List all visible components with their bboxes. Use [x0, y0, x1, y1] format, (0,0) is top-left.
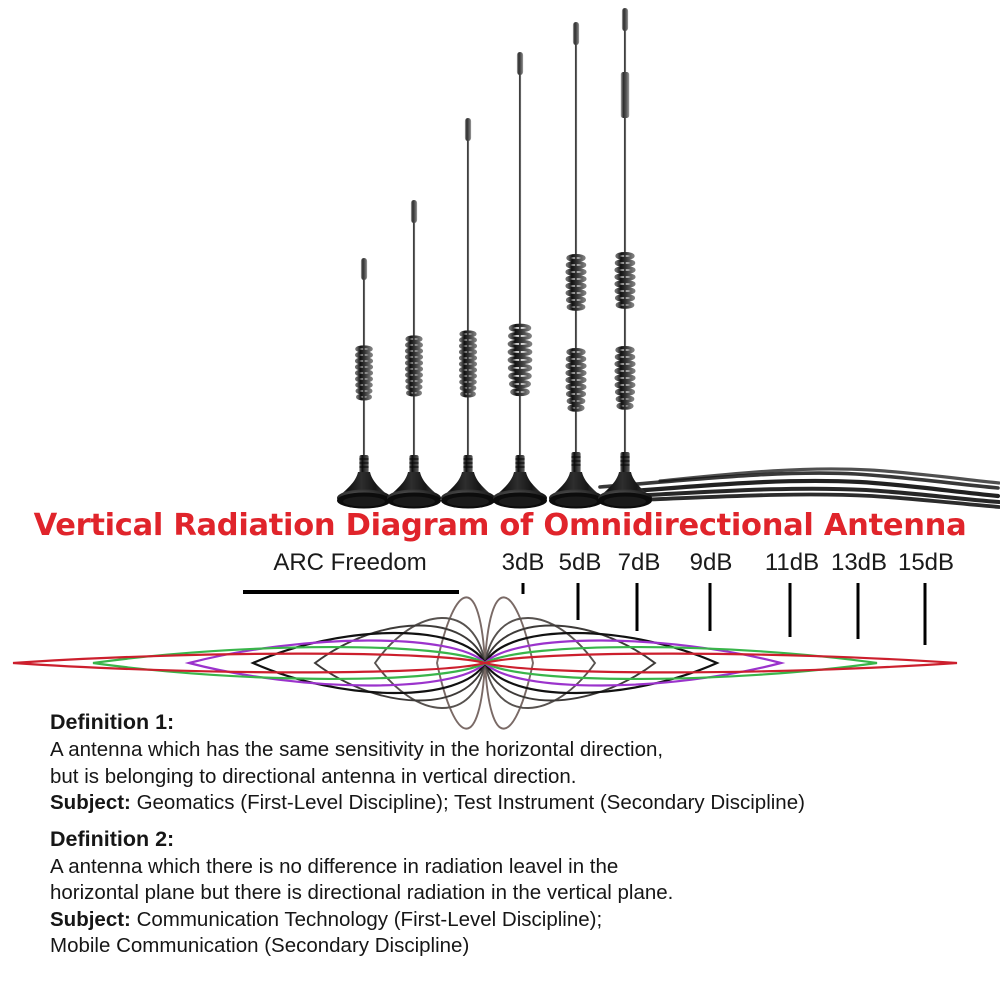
definition-1-line-1: A antenna which has the same sensitivity…	[50, 737, 980, 764]
definition-1-heading: Definition 1:	[50, 707, 980, 737]
subject-key-1: Subject:	[50, 791, 131, 814]
lobe-13db	[485, 647, 877, 679]
subject-value-2: Communication Technology (First-Level Di…	[131, 908, 602, 931]
definition-2-subject-line-2: Mobile Communication (Secondary Discipli…	[50, 933, 980, 960]
definitions-spacer	[50, 817, 980, 824]
lobe-9db	[485, 633, 717, 693]
antenna-unit-5	[549, 22, 603, 509]
definitions-block: Definition 1: A antenna which has the sa…	[50, 707, 980, 960]
lobe-13db	[93, 647, 485, 679]
definition-2-line-1: A antenna which there is no difference i…	[50, 854, 980, 881]
antenna-product-photo	[0, 0, 1000, 512]
antenna-unit-4	[493, 52, 547, 509]
loading-coil	[356, 345, 372, 403]
antenna-unit-2	[387, 200, 441, 509]
lobe-9db	[253, 633, 485, 693]
scale-label-5db: 5dB	[559, 549, 602, 577]
lobe-15db	[485, 654, 957, 673]
lobe-5db	[375, 618, 485, 708]
definition-2-heading: Definition 2:	[50, 824, 980, 854]
scale-label-11db: 11dB	[765, 549, 819, 577]
antenna-unit-3	[441, 118, 495, 509]
loading-coil-upper	[567, 256, 585, 309]
antenna-unit-6	[598, 8, 652, 509]
loading-coil	[407, 337, 422, 395]
definition-2-line-2: horizontal plane but there is directiona…	[50, 880, 980, 907]
definition-1-subject: Subject: Geomatics (First-Level Discipli…	[50, 790, 980, 817]
poster-canvas: Vertical Radiation Diagram of Omnidirect…	[0, 0, 1000, 1000]
lobe-5db	[485, 618, 595, 708]
subject-value-1: Geomatics (First-Level Discipline); Test…	[131, 791, 805, 814]
page-title: Vertical Radiation Diagram of Omnidirect…	[0, 508, 1000, 543]
scale-label-3db: 3dB	[502, 549, 545, 577]
scale-label-15db: 15dB	[898, 549, 954, 577]
antenna-cables	[600, 469, 999, 507]
scale-label-9db: 9dB	[690, 549, 733, 577]
antenna-unit-1	[337, 258, 391, 509]
scale-label-13db: 13dB	[831, 549, 887, 577]
loading-coil-upper	[616, 254, 634, 307]
brand-label: ARC Freedom	[273, 549, 426, 577]
subject-key-2: Subject:	[50, 908, 131, 931]
definition-1-line-2: but is belonging to directional antenna …	[50, 764, 980, 791]
definition-2-subject: Subject: Communication Technology (First…	[50, 907, 980, 934]
lobe-15db	[13, 654, 485, 673]
scale-label-7db: 7dB	[618, 549, 661, 577]
